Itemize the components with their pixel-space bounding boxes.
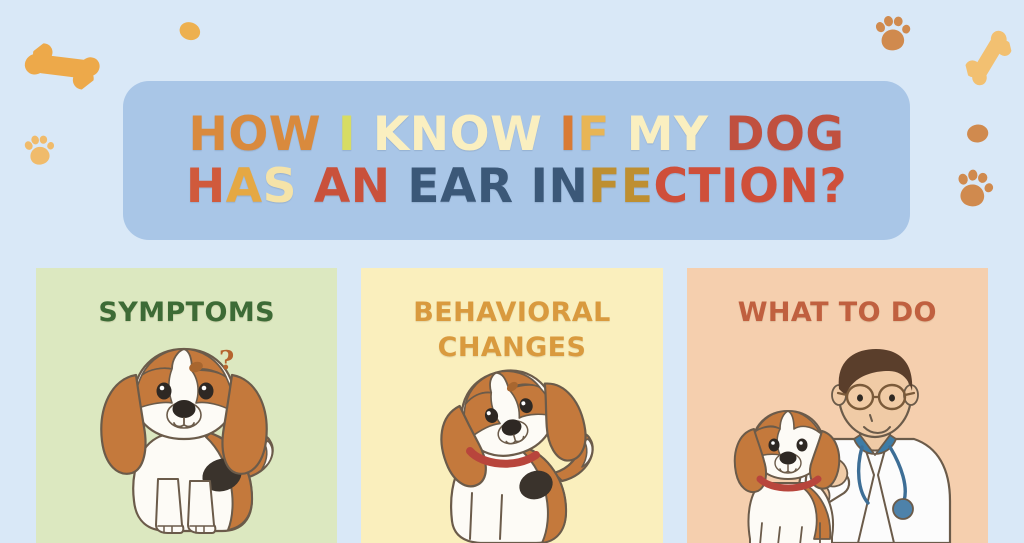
panel-title-what-to-do: WHAT TO DO (687, 296, 988, 331)
title-line-2: HAS AN EAR INFECTION? (186, 162, 847, 212)
title-line-1-run-0: HOW (189, 107, 339, 162)
beagle-head-tilt-red-collar-illustration (361, 363, 662, 543)
title-line-1-run-2: KNOW (373, 107, 559, 162)
title-line-1-run-3: I (559, 107, 577, 162)
panel-title-line-2: CHANGES (361, 331, 662, 366)
title-line-1: HOW I KNOW IF MY DOG (189, 110, 845, 160)
infographic-canvas: HOW I KNOW IF MY DOG HAS AN EAR INFECTIO… (0, 0, 1024, 543)
title-line-2-run-1: A (226, 159, 263, 214)
veterinarian-examining-dog-ear-illustration (687, 343, 988, 543)
title-line-2-run-3: AN (314, 159, 408, 214)
title-line-2-run-0: H (186, 159, 226, 214)
panel-what-to-do[interactable]: WHAT TO DO (687, 268, 988, 543)
title-line-1-run-6: DOG (725, 107, 844, 162)
bone-top-left-icon (16, 21, 113, 117)
paw-left-upper-icon (18, 129, 59, 174)
panel-row: SYMPTOMS?BEHAVIORALCHANGESWHAT TO DO (0, 268, 1024, 543)
question-mark-icon: ? (219, 346, 234, 376)
panel-symptoms[interactable]: SYMPTOMS? (36, 268, 337, 543)
panel-title-behavioral-changes: BEHAVIORALCHANGES (361, 296, 662, 365)
paw-right-lower-icon (950, 164, 997, 215)
title-banner: HOW I KNOW IF MY DOG HAS AN EAR INFECTIO… (123, 81, 910, 240)
title-line-1-run-4: F (577, 107, 626, 162)
bone-right-upper-icon (954, 25, 1019, 92)
dot-right-middle-icon (964, 122, 991, 149)
title-line-2-run-2: S (263, 159, 314, 214)
beagle-sitting-confused-illustration (36, 329, 337, 543)
panel-title-line-1: BEHAVIORAL (361, 296, 662, 331)
title-line-2-run-5: FE (588, 159, 653, 214)
paw-top-right-icon (869, 9, 915, 59)
title-line-2-run-4: EAR IN (407, 159, 588, 214)
dot-top-center-left-icon (173, 15, 204, 52)
title-line-1-run-5: MY (627, 107, 726, 162)
panel-behavioral-changes[interactable]: BEHAVIORALCHANGES (361, 268, 662, 543)
panel-title-symptoms: SYMPTOMS (36, 296, 337, 331)
title-line-2-run-6: CTION? (654, 159, 848, 214)
title-line-1-run-1: I (338, 107, 373, 162)
